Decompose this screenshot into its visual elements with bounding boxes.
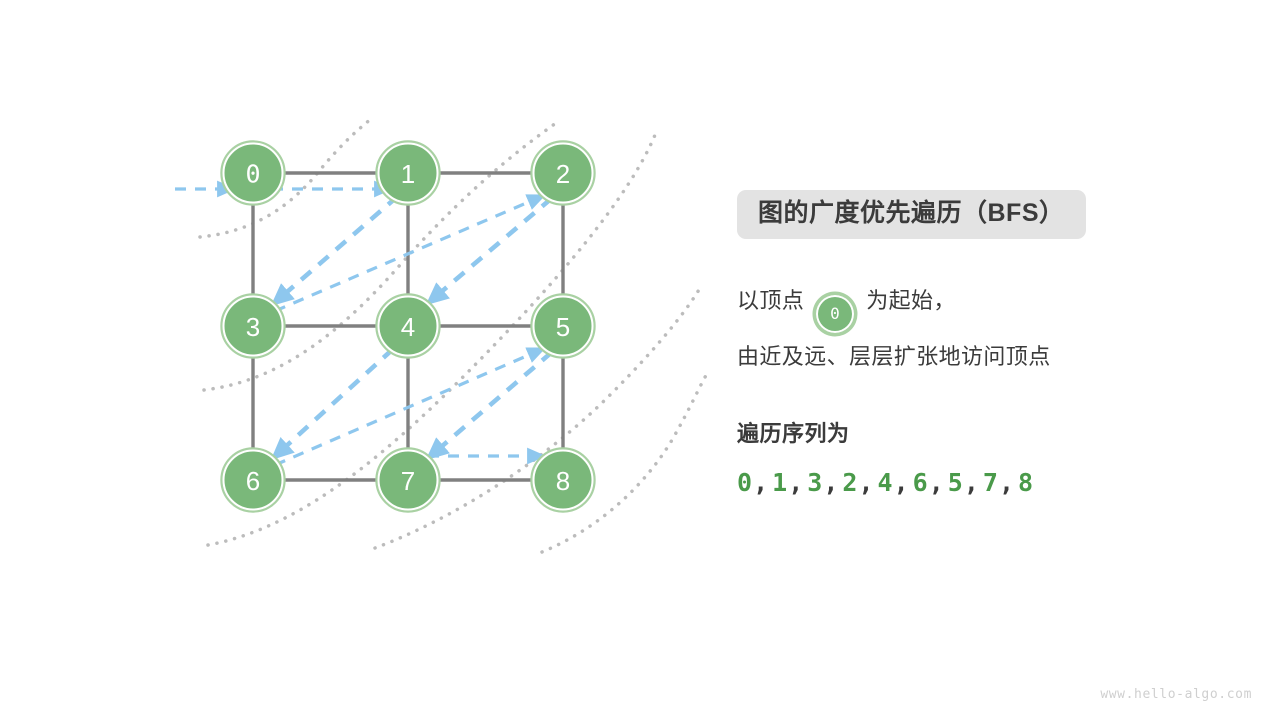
bfs-arrow-1-3: [272, 196, 398, 305]
sequence-heading: 遍历序列为: [737, 416, 1237, 448]
sequence-separator: ,: [858, 468, 873, 497]
sequence-number: 2: [842, 468, 857, 497]
bfs-arrow-4-6: [272, 349, 393, 459]
node-label: 3: [246, 312, 260, 342]
traversal-sequence: 0,1,3,2,4,6,5,7,8: [737, 468, 1237, 497]
info-panel: 图的广度优先遍历（BFS） 以顶点0为起始， 由近及远、层层扩张地访问顶点 遍历…: [737, 190, 1237, 497]
node-label: 7: [401, 466, 415, 496]
bfs-arrow-5-7: [427, 352, 552, 459]
graph-node-5[interactable]: 5: [531, 294, 594, 357]
graph-node-3[interactable]: 3: [221, 294, 284, 357]
node-label: 6: [246, 466, 260, 496]
diagram-canvas: 0 1 2 3 4: [0, 0, 1280, 720]
sequence-separator: ,: [999, 468, 1014, 497]
sequence-number: 1: [772, 468, 787, 497]
sequence-number: 3: [807, 468, 822, 497]
watermark: www.hello-algo.com: [1100, 687, 1252, 702]
graph-node-7[interactable]: 7: [376, 448, 439, 511]
sequence-separator: ,: [788, 468, 803, 497]
start-vertex-badge: 0: [816, 295, 854, 333]
node-label: 8: [556, 466, 570, 496]
description-line-1: 以顶点0为起始，: [737, 277, 1237, 333]
sequence-separator: ,: [753, 468, 768, 497]
sequence-separator: ,: [894, 468, 909, 497]
sequence-number: 0: [737, 468, 752, 497]
description-prefix: 以顶点: [737, 288, 804, 313]
graph-node-4[interactable]: 4: [376, 294, 439, 357]
sequence-number: 8: [1018, 468, 1033, 497]
sequence-number: 6: [913, 468, 928, 497]
sequence-number: 4: [878, 468, 893, 497]
node-label: 1: [401, 159, 415, 189]
sequence-number: 5: [948, 468, 963, 497]
graph-node-8[interactable]: 8: [531, 448, 594, 511]
node-label: 0: [245, 160, 260, 189]
graph-node-2[interactable]: 2: [531, 141, 594, 204]
bfs-arrow-2-4: [427, 198, 552, 304]
graph-node-0[interactable]: 0: [221, 141, 284, 204]
graph-node-1[interactable]: 1: [376, 141, 439, 204]
sequence-separator: ,: [929, 468, 944, 497]
description-line-2: 由近及远、层层扩张地访问顶点: [737, 333, 1237, 380]
graph-node-6[interactable]: 6: [221, 448, 284, 511]
sequence-number: 7: [983, 468, 998, 497]
panel-description: 以顶点0为起始， 由近及远、层层扩张地访问顶点: [737, 277, 1237, 380]
node-label: 4: [401, 312, 415, 342]
description-suffix: 为起始，: [866, 288, 956, 313]
node-label: 5: [556, 312, 570, 342]
node-label: 2: [556, 159, 570, 189]
sequence-separator: ,: [823, 468, 838, 497]
sequence-separator: ,: [964, 468, 979, 497]
panel-title-badge: 图的广度优先遍历（BFS）: [737, 190, 1086, 239]
